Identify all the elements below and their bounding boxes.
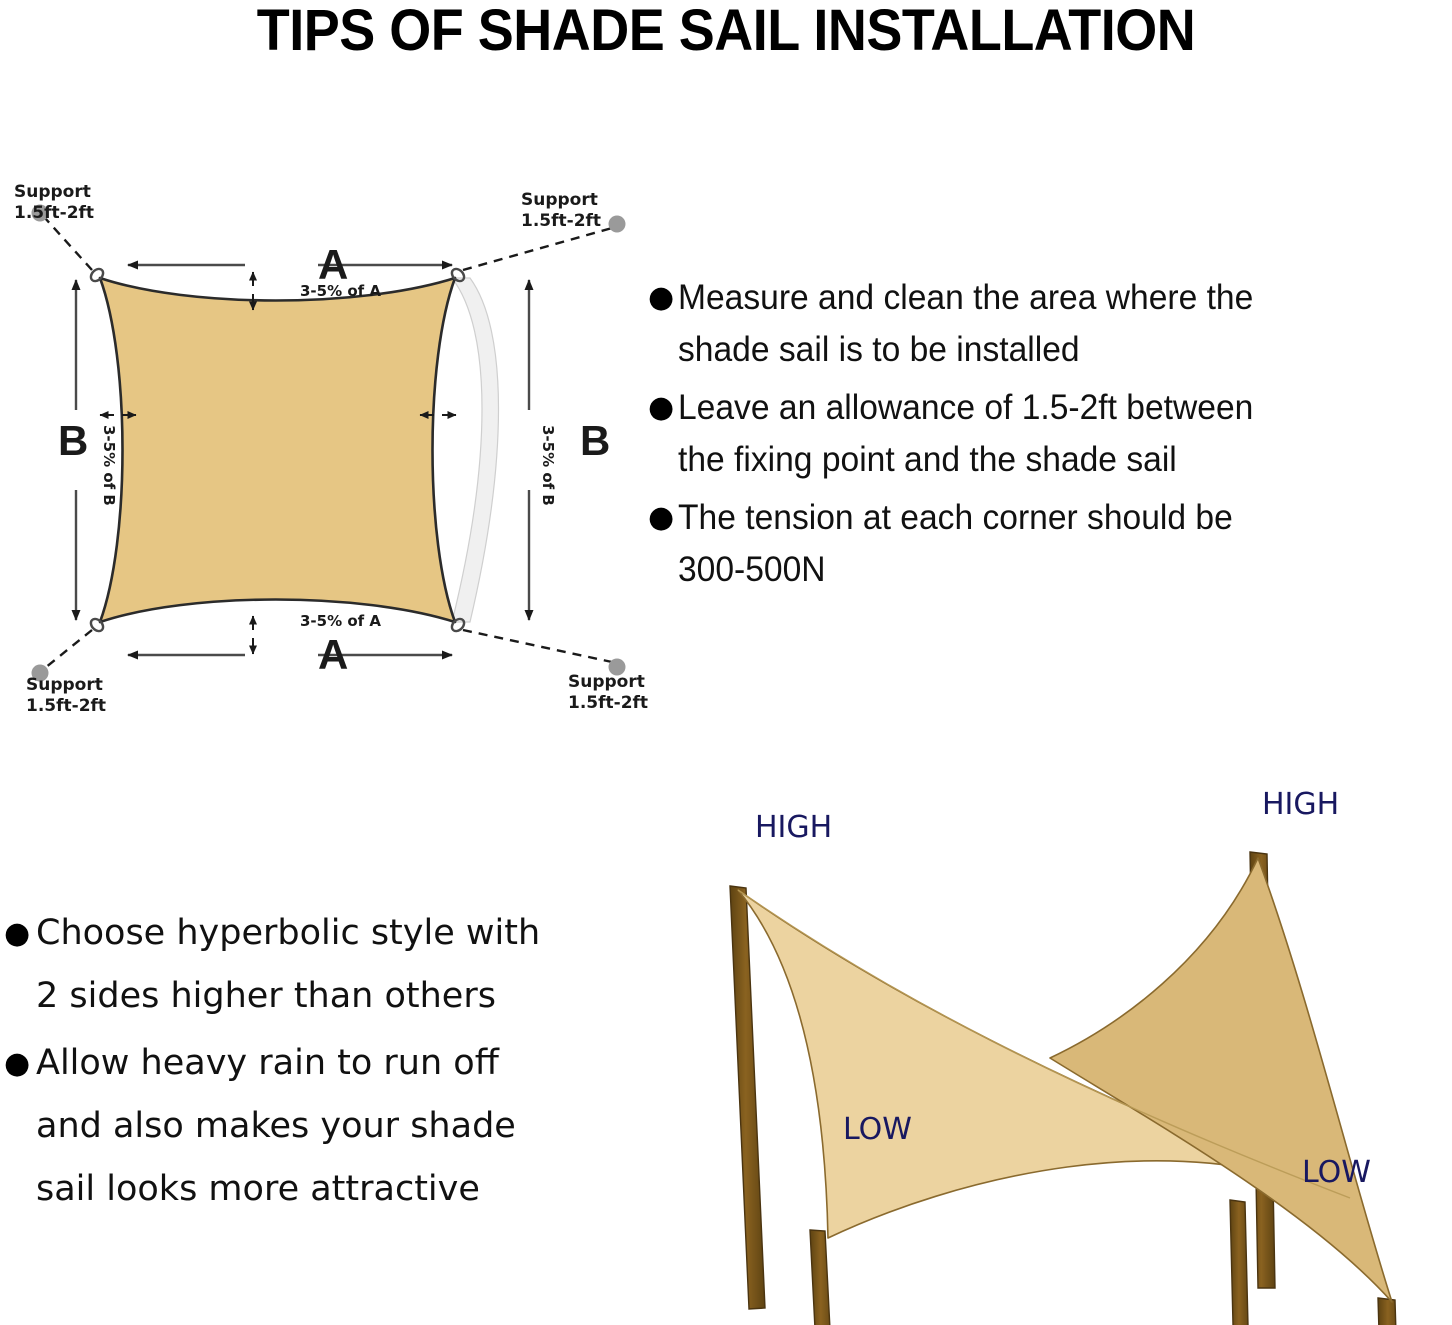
- post-low-rear-right: [1230, 1200, 1250, 1325]
- support-label-bottom-left: Support 1.5ft-2ft: [26, 675, 106, 717]
- support-label-line2: 1.5ft-2ft: [568, 693, 648, 714]
- installation-tips-list: ● Measure and clean the area where the s…: [648, 272, 1452, 602]
- label-low-left: LOW: [843, 1112, 912, 1147]
- list-item: ● Leave an allowance of 1.5-2ft between …: [648, 382, 1452, 486]
- post-high-left: [730, 886, 765, 1309]
- support-label-top-right: Support 1.5ft-2ft: [521, 190, 601, 232]
- list-item: ● Allow heavy rain to run off and also m…: [4, 1032, 634, 1221]
- style-line: Choose hyperbolic style with: [36, 902, 540, 965]
- hyperbolic-sail-svg: [650, 790, 1450, 1325]
- list-item: ● Choose hyperbolic style with 2 sides h…: [4, 902, 634, 1028]
- tip-line: The tension at each corner should be: [678, 492, 1233, 544]
- bullet-icon: ●: [4, 902, 36, 965]
- list-item: ● The tension at each corner should be 3…: [648, 492, 1452, 596]
- support-label-bottom-right: Support 1.5ft-2ft: [568, 672, 648, 714]
- list-item: ● Measure and clean the area where the s…: [648, 272, 1452, 376]
- hyperbolic-sail-illustration: HIGH HIGH LOW LOW: [650, 790, 1450, 1325]
- style-line: and also makes your shade: [36, 1095, 516, 1158]
- support-label-line1: Support: [26, 675, 106, 696]
- dimension-label-b-left: B: [58, 420, 88, 462]
- tip-line: the fixing point and the shade sail: [678, 434, 1253, 486]
- style-text: Choose hyperbolic style with 2 sides hig…: [36, 902, 540, 1028]
- dimension-label-a-top: A: [318, 244, 348, 286]
- style-line: sail looks more attractive: [36, 1158, 516, 1221]
- tip-line: shade sail is to be installed: [678, 324, 1253, 376]
- label-low-right: LOW: [1302, 1155, 1371, 1190]
- bullet-icon: ●: [648, 492, 678, 544]
- style-line: Allow heavy rain to run off: [36, 1032, 516, 1095]
- support-label-line2: 1.5ft-2ft: [14, 203, 94, 224]
- style-tips-list: ● Choose hyperbolic style with 2 sides h…: [4, 902, 634, 1225]
- curve-label-a-top: 3-5% of A: [300, 283, 381, 299]
- page-title: TIPS OF SHADE SAIL INSTALLATION: [51, 0, 1401, 62]
- support-label-line1: Support: [568, 672, 648, 693]
- dimension-label-a-bottom: A: [318, 634, 348, 676]
- support-label-line1: Support: [521, 190, 601, 211]
- post-low-right: [1378, 1298, 1400, 1325]
- support-label-line2: 1.5ft-2ft: [521, 211, 601, 232]
- bullet-icon: ●: [648, 272, 678, 324]
- style-line: 2 sides higher than others: [36, 965, 540, 1028]
- sail-panel-right: [1050, 858, 1392, 1302]
- support-label-top-left: Support 1.5ft-2ft: [14, 182, 94, 224]
- label-high-right: HIGH: [1262, 787, 1339, 822]
- post-low-left: [810, 1230, 834, 1325]
- style-text: Allow heavy rain to run off and also mak…: [36, 1032, 516, 1221]
- bullet-icon: ●: [648, 382, 678, 434]
- dimension-label-b-right: B: [580, 420, 610, 462]
- curve-label-b-right: 3-5% of B: [540, 425, 556, 506]
- bullet-icon: ●: [4, 1032, 36, 1095]
- tip-text: Leave an allowance of 1.5-2ft between th…: [678, 382, 1253, 486]
- tip-line: Leave an allowance of 1.5-2ft between: [678, 382, 1253, 434]
- tip-text: The tension at each corner should be 300…: [678, 492, 1233, 596]
- tip-text: Measure and clean the area where the sha…: [678, 272, 1253, 376]
- curve-label-b-left: 3-5% of B: [101, 425, 117, 506]
- sail-back-shadow: [452, 278, 499, 622]
- support-label-line2: 1.5ft-2ft: [26, 696, 106, 717]
- support-dot-top-right: [609, 216, 626, 233]
- support-label-line1: Support: [14, 182, 94, 203]
- tip-line: Measure and clean the area where the: [678, 272, 1253, 324]
- curve-label-a-bottom: 3-5% of A: [300, 613, 381, 629]
- shade-sail-shape: [100, 278, 455, 622]
- label-high-left: HIGH: [755, 810, 832, 845]
- tip-line: 300-500N: [678, 544, 1233, 596]
